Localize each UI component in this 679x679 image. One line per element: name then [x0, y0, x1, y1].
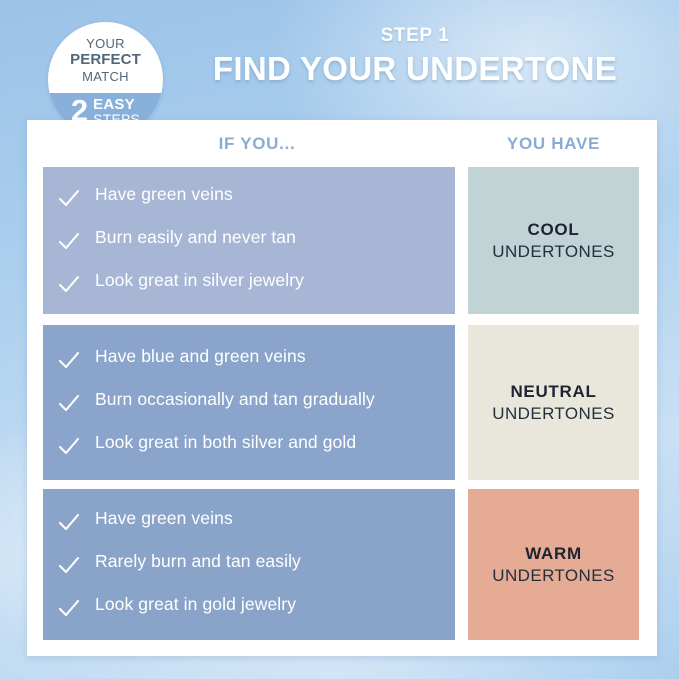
table-row: Have green veins Burn easily and never t…: [27, 167, 657, 314]
undertone-sublabel: UNDERTONES: [492, 403, 614, 424]
criteria-text: Have green veins: [95, 184, 233, 206]
title-block: STEP 1 FIND YOUR UNDERTONE: [175, 26, 655, 87]
undertone-name: WARM: [525, 543, 582, 564]
criteria-text: Look great in gold jewelry: [95, 594, 296, 616]
column-header-if-you: IF YOU...: [43, 134, 471, 154]
criteria-box: Have blue and green veins Burn occasiona…: [43, 325, 455, 480]
undertone-sublabel: UNDERTONES: [492, 565, 614, 586]
undertone-swatch-warm: WARM UNDERTONES: [468, 489, 639, 640]
undertone-swatch-cool: COOL UNDERTONES: [468, 167, 639, 314]
criteria-text: Have green veins: [95, 508, 233, 530]
undertone-swatch-neutral: NEUTRAL UNDERTONES: [468, 325, 639, 480]
header: YOUR PERFECT MATCH 2 EASY STEPS STEP 1 F…: [0, 0, 679, 120]
check-icon: [57, 273, 81, 297]
criteria-text: Have blue and green veins: [95, 346, 306, 368]
list-item: Rarely burn and tan easily: [57, 551, 441, 578]
check-icon: [57, 511, 81, 535]
list-item: Look great in silver jewelry: [57, 270, 441, 297]
badge-line-easy: EASY: [93, 97, 140, 112]
check-icon: [57, 187, 81, 211]
check-icon: [57, 349, 81, 373]
list-item: Burn easily and never tan: [57, 227, 441, 254]
undertone-infographic: YOUR PERFECT MATCH 2 EASY STEPS STEP 1 F…: [0, 0, 679, 679]
criteria-text: Rarely burn and tan easily: [95, 551, 301, 573]
check-icon: [57, 230, 81, 254]
criteria-text: Look great in both silver and gold: [95, 432, 356, 454]
criteria-text: Look great in silver jewelry: [95, 270, 304, 292]
check-icon: [57, 392, 81, 416]
criteria-box: Have green veins Rarely burn and tan eas…: [43, 489, 455, 640]
list-item: Have blue and green veins: [57, 346, 441, 373]
undertone-name: COOL: [528, 219, 580, 240]
content-card: IF YOU... YOU HAVE Have green veins Burn…: [27, 120, 657, 656]
undertone-name: NEUTRAL: [510, 381, 596, 402]
badge-top-text: YOUR PERFECT MATCH: [48, 36, 163, 84]
badge-line-perfect: PERFECT: [48, 51, 163, 69]
criteria-text: Burn occasionally and tan gradually: [95, 389, 375, 411]
list-item: Look great in gold jewelry: [57, 594, 441, 621]
check-icon: [57, 597, 81, 621]
list-item: Look great in both silver and gold: [57, 432, 441, 459]
column-headers: IF YOU... YOU HAVE: [27, 134, 657, 166]
page-title: FIND YOUR UNDERTONE: [175, 51, 655, 87]
list-item: Have green veins: [57, 508, 441, 535]
column-header-you-have: YOU HAVE: [468, 134, 639, 154]
criteria-text: Burn easily and never tan: [95, 227, 296, 249]
check-icon: [57, 554, 81, 578]
step-label: STEP 1: [175, 26, 655, 45]
list-item: Burn occasionally and tan gradually: [57, 389, 441, 416]
table-row: Have green veins Rarely burn and tan eas…: [27, 489, 657, 640]
criteria-box: Have green veins Burn easily and never t…: [43, 167, 455, 314]
badge-line-your: YOUR: [48, 36, 163, 51]
badge-line-match: MATCH: [48, 69, 163, 84]
table-row: Have blue and green veins Burn occasiona…: [27, 325, 657, 480]
check-icon: [57, 435, 81, 459]
undertone-sublabel: UNDERTONES: [492, 241, 614, 262]
list-item: Have green veins: [57, 184, 441, 211]
